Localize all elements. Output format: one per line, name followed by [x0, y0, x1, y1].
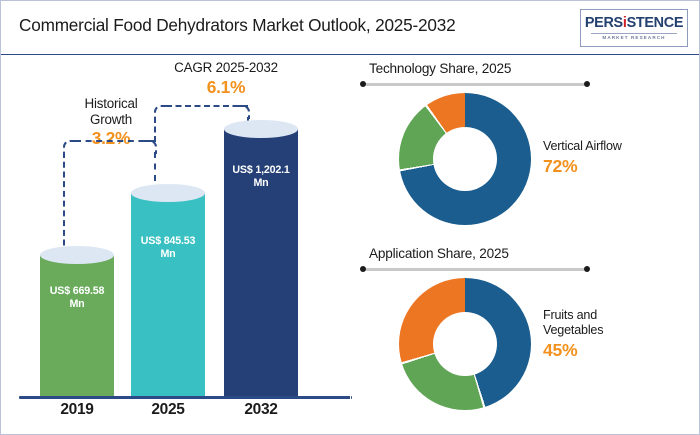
bar-2019-value-line2: Mn: [40, 298, 114, 311]
bar-2019[interactable]: US$ 669.58 Mn: [40, 55, 114, 396]
bar-2032-value-line2: Mn: [224, 177, 298, 190]
application-share-title-rule: [361, 268, 589, 271]
application-share-donut-ring: [399, 278, 531, 410]
bar-2025-cap: [131, 184, 205, 202]
logo-tagline: MARKET RESEARCH: [591, 33, 677, 41]
bar-2019-value: US$ 669.58 Mn: [40, 285, 114, 310]
technology-share-legend: Vertical Airflow 72%: [543, 139, 683, 177]
application-share-donut[interactable]: [399, 278, 531, 410]
panel-divider: [350, 57, 351, 435]
application-share-legend-value: 45%: [543, 340, 683, 361]
bar-2019-body: US$ 669.58 Mn: [40, 255, 114, 396]
logo-wordmark: PERSiSTENCE: [585, 16, 683, 30]
bar-2025-body: US$ 845.53 Mn: [131, 193, 205, 396]
x-axis-label-2032: 2032: [216, 401, 306, 419]
page-title: Commercial Food Dehydrators Market Outlo…: [19, 15, 455, 36]
technology-share-block: Technology Share, 2025 Vertical Airflow …: [361, 61, 691, 236]
logo-word-before: PERS: [585, 15, 623, 31]
application-share-block: Application Share, 2025 Fruits and Veget…: [361, 246, 691, 426]
bar-chart-panel: Historical Growth 3.2% CAGR 2025-2032 6.…: [1, 55, 351, 435]
technology-share-title: Technology Share, 2025: [369, 61, 511, 76]
application-share-donut-hole: [433, 312, 497, 376]
bar-2025-value: US$ 845.53 Mn: [131, 235, 205, 260]
persistence-market-research-logo: PERSiSTENCE MARKET RESEARCH: [580, 9, 688, 47]
bar-2019-cap: [40, 246, 114, 264]
application-share-legend-label-line1: Fruits and: [543, 308, 683, 323]
technology-share-legend-value: 72%: [543, 156, 683, 177]
bar-2032-cap: [224, 120, 298, 138]
bar-2025[interactable]: US$ 845.53 Mn: [131, 55, 205, 396]
bar-2032[interactable]: US$ 1,202.1 Mn: [224, 55, 298, 396]
header-bar: Commercial Food Dehydrators Market Outlo…: [1, 1, 700, 55]
bar-2025-value-line2: Mn: [131, 248, 205, 261]
technology-share-donut[interactable]: [399, 93, 531, 225]
technology-share-donut-ring: [399, 93, 531, 225]
technology-share-legend-label: Vertical Airflow: [543, 139, 683, 154]
x-axis-label-2025: 2025: [123, 401, 213, 419]
application-share-legend-label-line2: Vegetables: [543, 323, 683, 338]
x-axis-line: [19, 396, 352, 399]
application-share-legend: Fruits and Vegetables 45%: [543, 308, 683, 361]
logo-word-after: STENCE: [627, 15, 684, 31]
bar-2032-value-line1: US$ 1,202.1: [224, 164, 298, 177]
infographic-canvas: Commercial Food Dehydrators Market Outlo…: [0, 0, 700, 435]
bar-2019-value-line1: US$ 669.58: [40, 285, 114, 298]
technology-share-title-rule: [361, 83, 589, 86]
application-share-title: Application Share, 2025: [369, 246, 509, 261]
bar-2032-value: US$ 1,202.1 Mn: [224, 164, 298, 189]
bar-2032-body: US$ 1,202.1 Mn: [224, 129, 298, 396]
technology-share-donut-hole: [433, 127, 497, 191]
x-axis-label-2019: 2019: [32, 401, 122, 419]
bar-2025-value-line1: US$ 845.53: [131, 235, 205, 248]
